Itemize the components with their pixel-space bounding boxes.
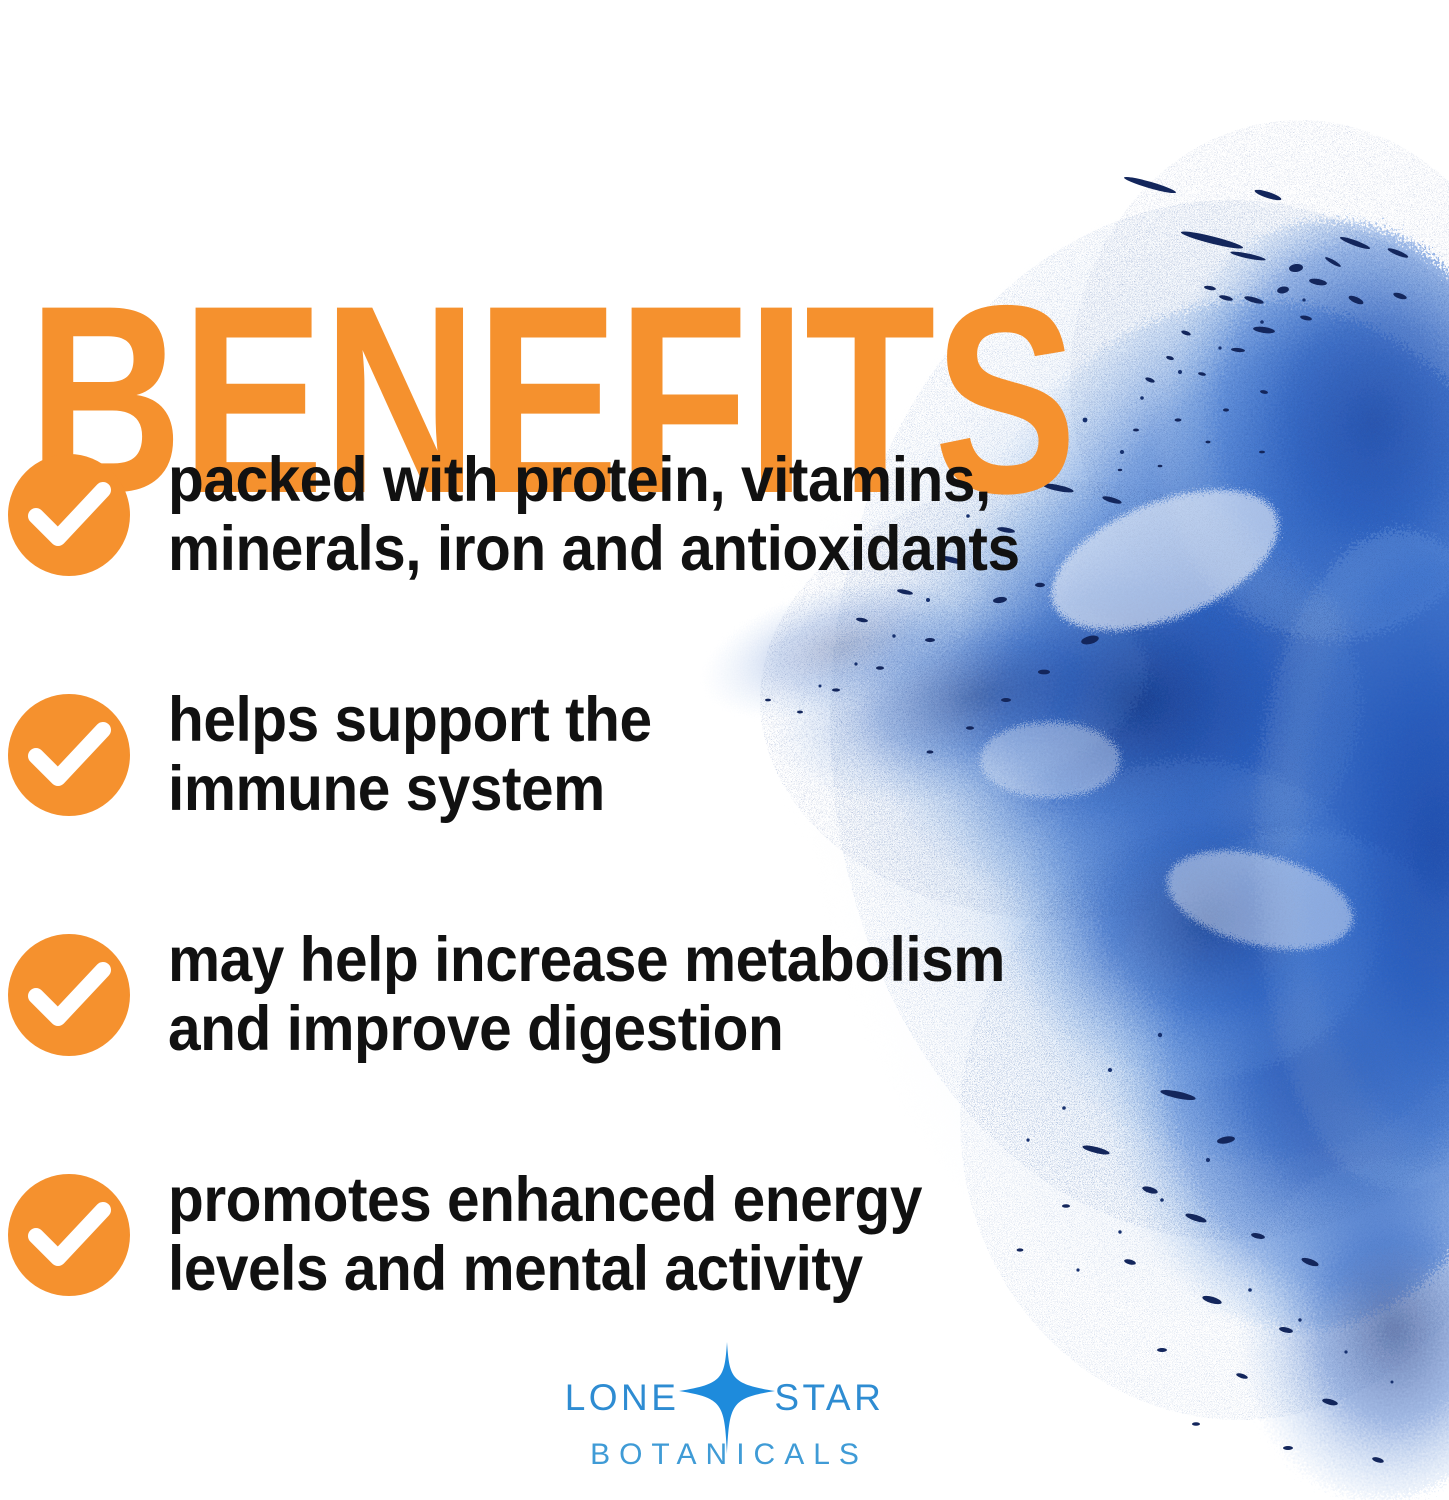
benefits-poster: BENEFITS packed with protein, vitamins, …	[0, 0, 1449, 1500]
logo-wordmark: LONE STAR	[565, 1372, 885, 1434]
list-item: helps support the immune system	[0, 680, 1200, 920]
list-item-label: promotes enhanced energy levels and ment…	[168, 1166, 922, 1305]
list-item-label: packed with protein, vitamins, minerals,…	[168, 446, 1020, 585]
four-point-star-icon	[679, 1342, 775, 1454]
brand-logo: LONE STAR BOTANICALS	[0, 1372, 1449, 1472]
list-item: may help increase metabolism and improve…	[0, 920, 1200, 1160]
check-circle-icon	[8, 934, 130, 1056]
check-circle-icon	[8, 454, 130, 576]
list-item-label: helps support the immune system	[168, 686, 652, 825]
list-item: packed with protein, vitamins, minerals,…	[0, 440, 1200, 680]
logo-star-slot	[684, 1372, 770, 1424]
benefits-list: packed with protein, vitamins, minerals,…	[0, 440, 1200, 1400]
logo-word-lone: LONE	[565, 1372, 680, 1424]
list-item-label: may help increase metabolism and improve…	[168, 926, 1005, 1065]
logo-word-star: STAR	[774, 1372, 884, 1424]
check-circle-icon	[8, 1174, 130, 1296]
list-item: promotes enhanced energy levels and ment…	[0, 1160, 1200, 1400]
check-circle-icon	[8, 694, 130, 816]
